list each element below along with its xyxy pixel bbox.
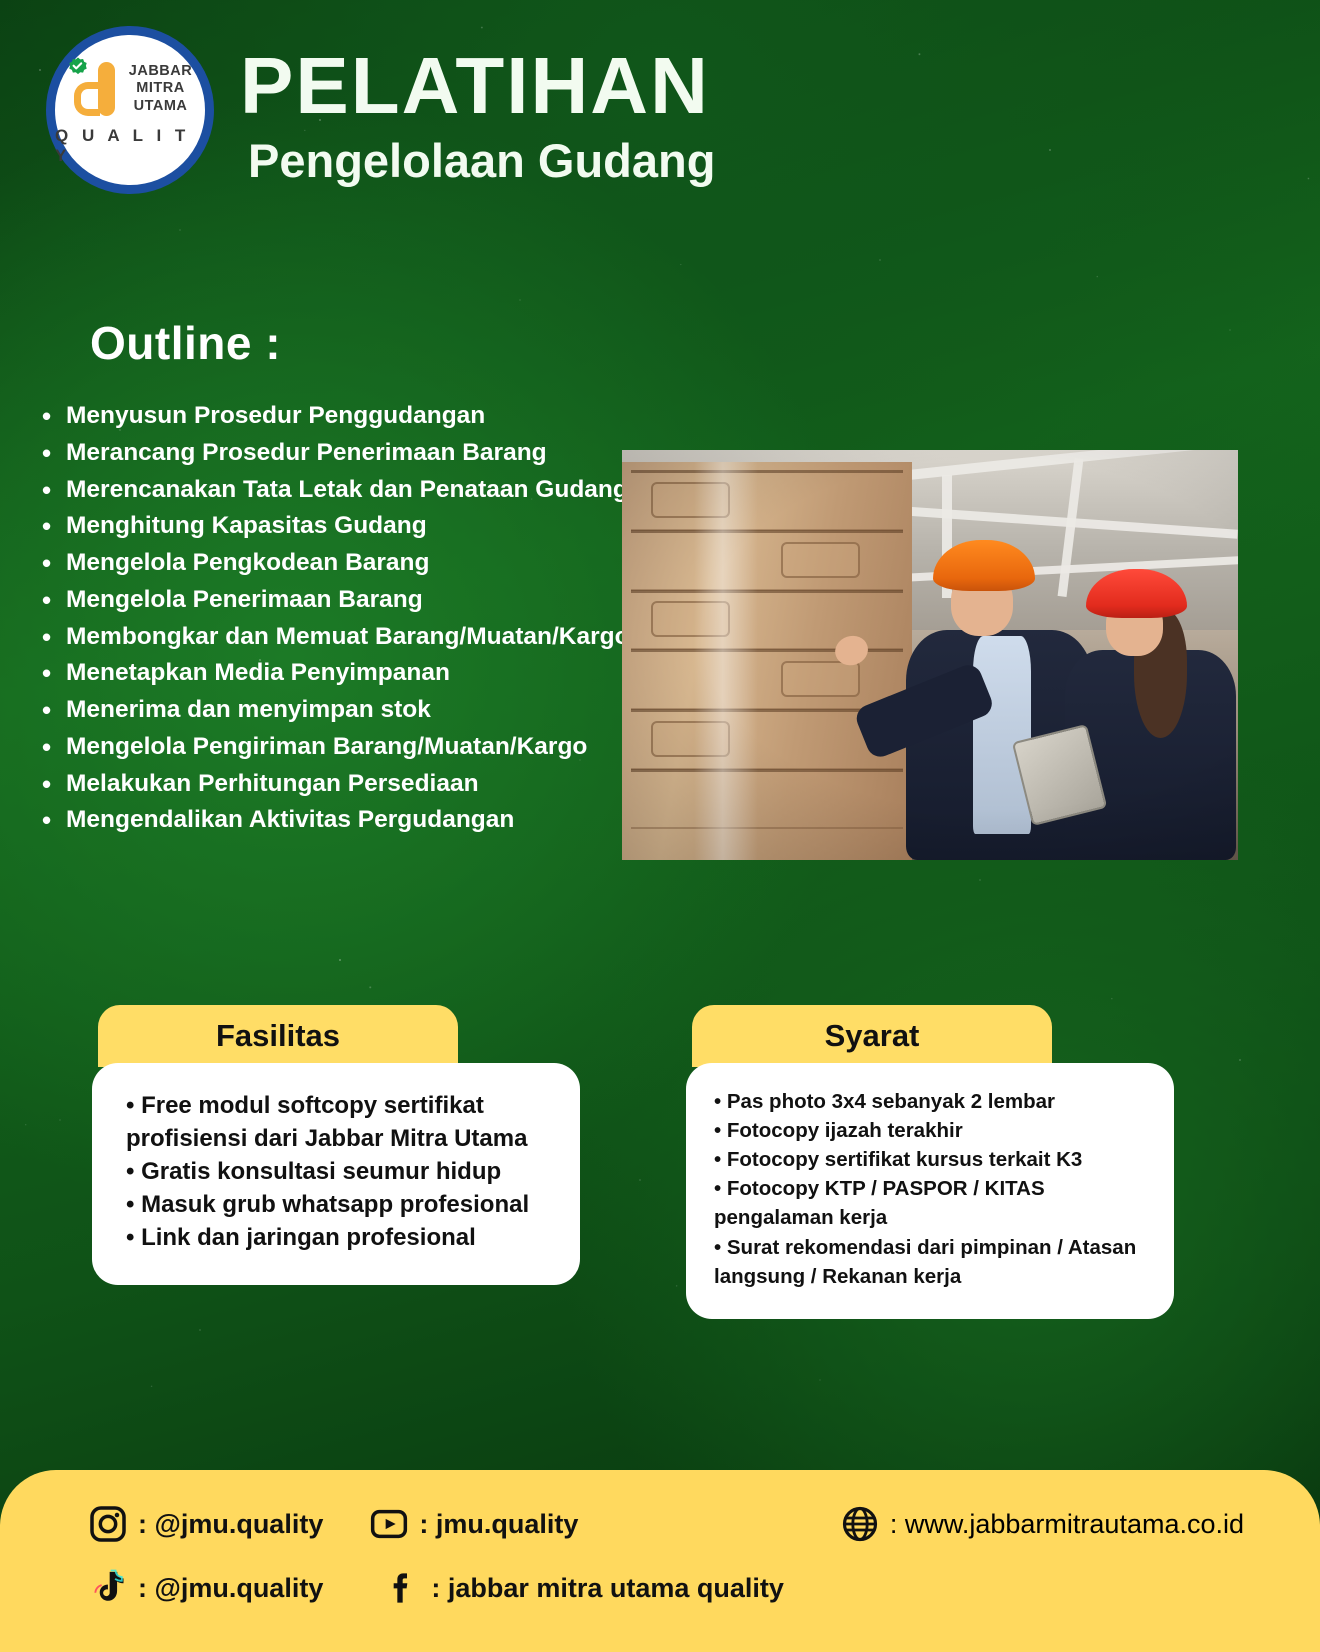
logo-top-row: JABBAR MITRA UTAMA [68, 58, 192, 120]
warehouse-photo-scene [622, 450, 1238, 860]
syarat-item: • Fotocopy sertifikat kursus terkait K3 [714, 1145, 1152, 1174]
title-block: PELATIHAN Pengelolaan Gudang [240, 26, 715, 186]
outline-item: Menghitung Kapasitas Gudang [36, 508, 636, 545]
facebook-handle: : jabbar mitra utama quality [431, 1573, 784, 1604]
photo-vignette [622, 450, 1238, 860]
contact-footer: : @jmu.quality : jmu.quality : ww [0, 1470, 1320, 1652]
outline-item: Merencanakan Tata Letak dan Penataan Gud… [36, 472, 636, 509]
fasilitas-item: • Free modul softcopy sertifikat profisi… [126, 1089, 554, 1155]
poster-title: PELATIHAN [240, 48, 715, 125]
fasilitas-card-tab: Fasilitas [98, 1005, 458, 1067]
company-logo: JABBAR MITRA UTAMA Q U A L I T Y [46, 26, 214, 194]
outline-item: Melakukan Perhitungan Persediaan [36, 766, 636, 803]
fasilitas-item: • Gratis konsultasi seumur hidup [126, 1155, 554, 1188]
syarat-title: Syarat [825, 1018, 920, 1054]
syarat-card: Syarat • Pas photo 3x4 sebanyak 2 lembar… [686, 1005, 1174, 1319]
fasilitas-title: Fasilitas [216, 1018, 340, 1054]
outline-item: Menyusun Prosedur Penggudangan [36, 398, 636, 435]
fasilitas-card-body: • Free modul softcopy sertifikat profisi… [92, 1063, 580, 1285]
outline-item: Mengelola Pengiriman Barang/Muatan/Kargo [36, 729, 636, 766]
logo-mark [68, 58, 122, 120]
instagram-contact[interactable]: : @jmu.quality [88, 1504, 323, 1544]
logo-hook-shape [74, 82, 100, 116]
poster-root: JABBAR MITRA UTAMA Q U A L I T Y PELATIH… [0, 0, 1320, 1652]
fasilitas-item: • Masuk grub whatsapp profesional [126, 1188, 554, 1221]
logo-line-1: JABBAR [129, 63, 192, 80]
logo-line-3: UTAMA [134, 98, 188, 115]
footer-row-2: : @jmu.quality : jabbar mitra utama qual… [0, 1556, 1320, 1620]
outline-item: Mengelola Penerimaan Barang [36, 582, 636, 619]
fasilitas-card: Fasilitas • Free modul softcopy sertifik… [92, 1005, 580, 1285]
globe-icon[interactable] [840, 1504, 880, 1544]
instagram-icon[interactable] [88, 1504, 128, 1544]
syarat-card-body: • Pas photo 3x4 sebanyak 2 lembar• Fotoc… [686, 1063, 1174, 1319]
website-url: : www.jabbarmitrautama.co.id [890, 1509, 1244, 1540]
syarat-list: • Pas photo 3x4 sebanyak 2 lembar• Fotoc… [714, 1087, 1152, 1291]
poster-header: JABBAR MITRA UTAMA Q U A L I T Y PELATIH… [46, 26, 1280, 194]
outline-item: Menerima dan menyimpan stok [36, 692, 636, 729]
logo-bar-shape [98, 62, 115, 116]
syarat-item: • Pas photo 3x4 sebanyak 2 lembar [714, 1087, 1152, 1116]
instagram-handle: : @jmu.quality [138, 1509, 323, 1540]
verified-badge-icon [66, 56, 90, 80]
outline-item: Mengelola Pengkodean Barang [36, 545, 636, 582]
youtube-contact[interactable]: : jmu.quality [369, 1504, 578, 1544]
youtube-icon[interactable] [369, 1504, 409, 1544]
facebook-contact[interactable]: : jabbar mitra utama quality [381, 1568, 784, 1608]
poster-subtitle: Pengelolaan Gudang [248, 135, 715, 187]
outline-heading: Outline : [90, 316, 281, 370]
youtube-handle: : jmu.quality [419, 1509, 578, 1540]
outline-list: Menyusun Prosedur PenggudanganMerancang … [36, 398, 636, 839]
tiktok-handle: : @jmu.quality [138, 1573, 323, 1604]
logo-wordmark: JABBAR MITRA UTAMA [129, 63, 192, 114]
outline-item: Membongkar dan Memuat Barang/Muatan/Karg… [36, 619, 636, 656]
fasilitas-item: • Link dan jaringan profesional [126, 1221, 554, 1254]
syarat-item: • Surat rekomendasi dari pimpinan / Atas… [714, 1233, 1152, 1291]
syarat-card-tab: Syarat [692, 1005, 1052, 1067]
facebook-icon[interactable] [381, 1568, 421, 1608]
footer-row-1: : @jmu.quality : jmu.quality : ww [0, 1492, 1320, 1556]
logo-quality-text: Q U A L I T Y [55, 126, 205, 166]
tiktok-contact[interactable]: : @jmu.quality [88, 1568, 323, 1608]
warehouse-photo [622, 450, 1238, 860]
website-contact[interactable]: : www.jabbarmitrautama.co.id [840, 1504, 1244, 1544]
outline-item: Merancang Prosedur Penerimaan Barang [36, 435, 636, 472]
syarat-item: • Fotocopy ijazah terakhir [714, 1116, 1152, 1145]
fasilitas-list: • Free modul softcopy sertifikat profisi… [126, 1089, 554, 1255]
outline-item: Menetapkan Media Penyimpanan [36, 655, 636, 692]
outline-item: Mengendalikan Aktivitas Pergudangan [36, 802, 636, 839]
tiktok-icon[interactable] [88, 1568, 128, 1608]
syarat-item: • Fotocopy KTP / PASPOR / KITAS pengalam… [714, 1174, 1152, 1232]
logo-line-2: MITRA [136, 80, 184, 97]
